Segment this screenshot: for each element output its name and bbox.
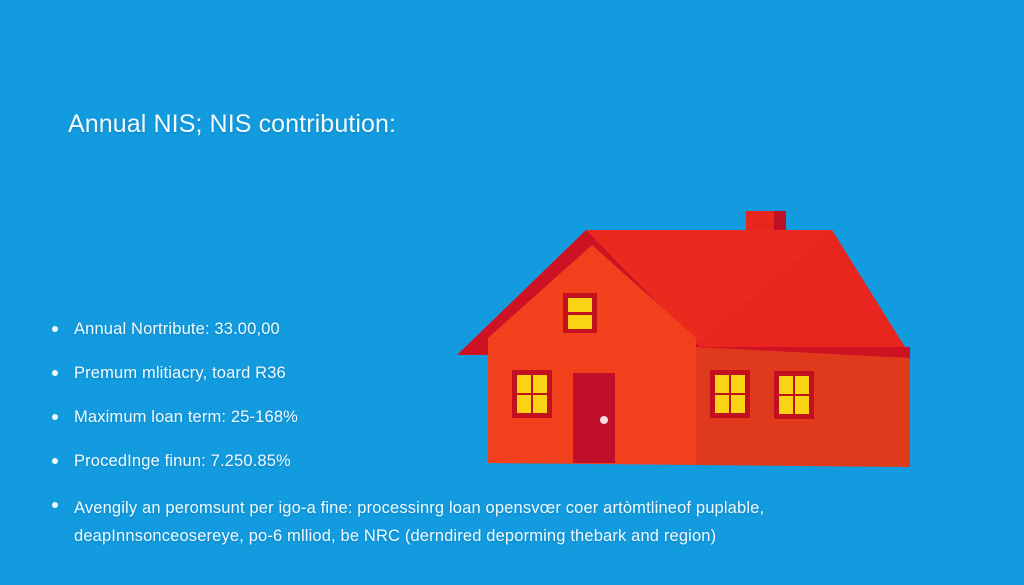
- bullet-dot-icon: [52, 458, 58, 464]
- page-title: Annual NIS; NIS contribution:: [68, 110, 396, 139]
- front-window: [512, 370, 552, 418]
- side-window-left: [710, 370, 750, 418]
- bullet-dot-icon: [52, 370, 58, 376]
- doorknob-icon: [600, 416, 608, 424]
- slide-canvas: Annual NIS; NIS contribution: Annual Nor…: [0, 0, 1024, 585]
- bullet-dot-icon: [52, 414, 58, 420]
- list-item-label: Premum mlitiacry, toard R36: [74, 364, 286, 382]
- list-item-label: Avengily an peromsunt per igo-a fine: pr…: [74, 499, 764, 545]
- house-illustration: [440, 195, 910, 485]
- list-item-label: ProcedInge finun: 7.250.85%: [74, 452, 291, 470]
- door[interactable]: [573, 373, 615, 463]
- bullet-dot-icon: [52, 326, 58, 332]
- side-window-right: [774, 371, 814, 419]
- list-item: Avengily an peromsunt per igo-a fine: pr…: [46, 494, 934, 550]
- bullet-dot-icon: [52, 502, 58, 508]
- attic-window: [563, 293, 597, 333]
- list-item-label: Annual Nortribute: 33.00,00: [74, 320, 280, 338]
- list-item-label: Maximum loan term: 25-168%: [74, 408, 298, 426]
